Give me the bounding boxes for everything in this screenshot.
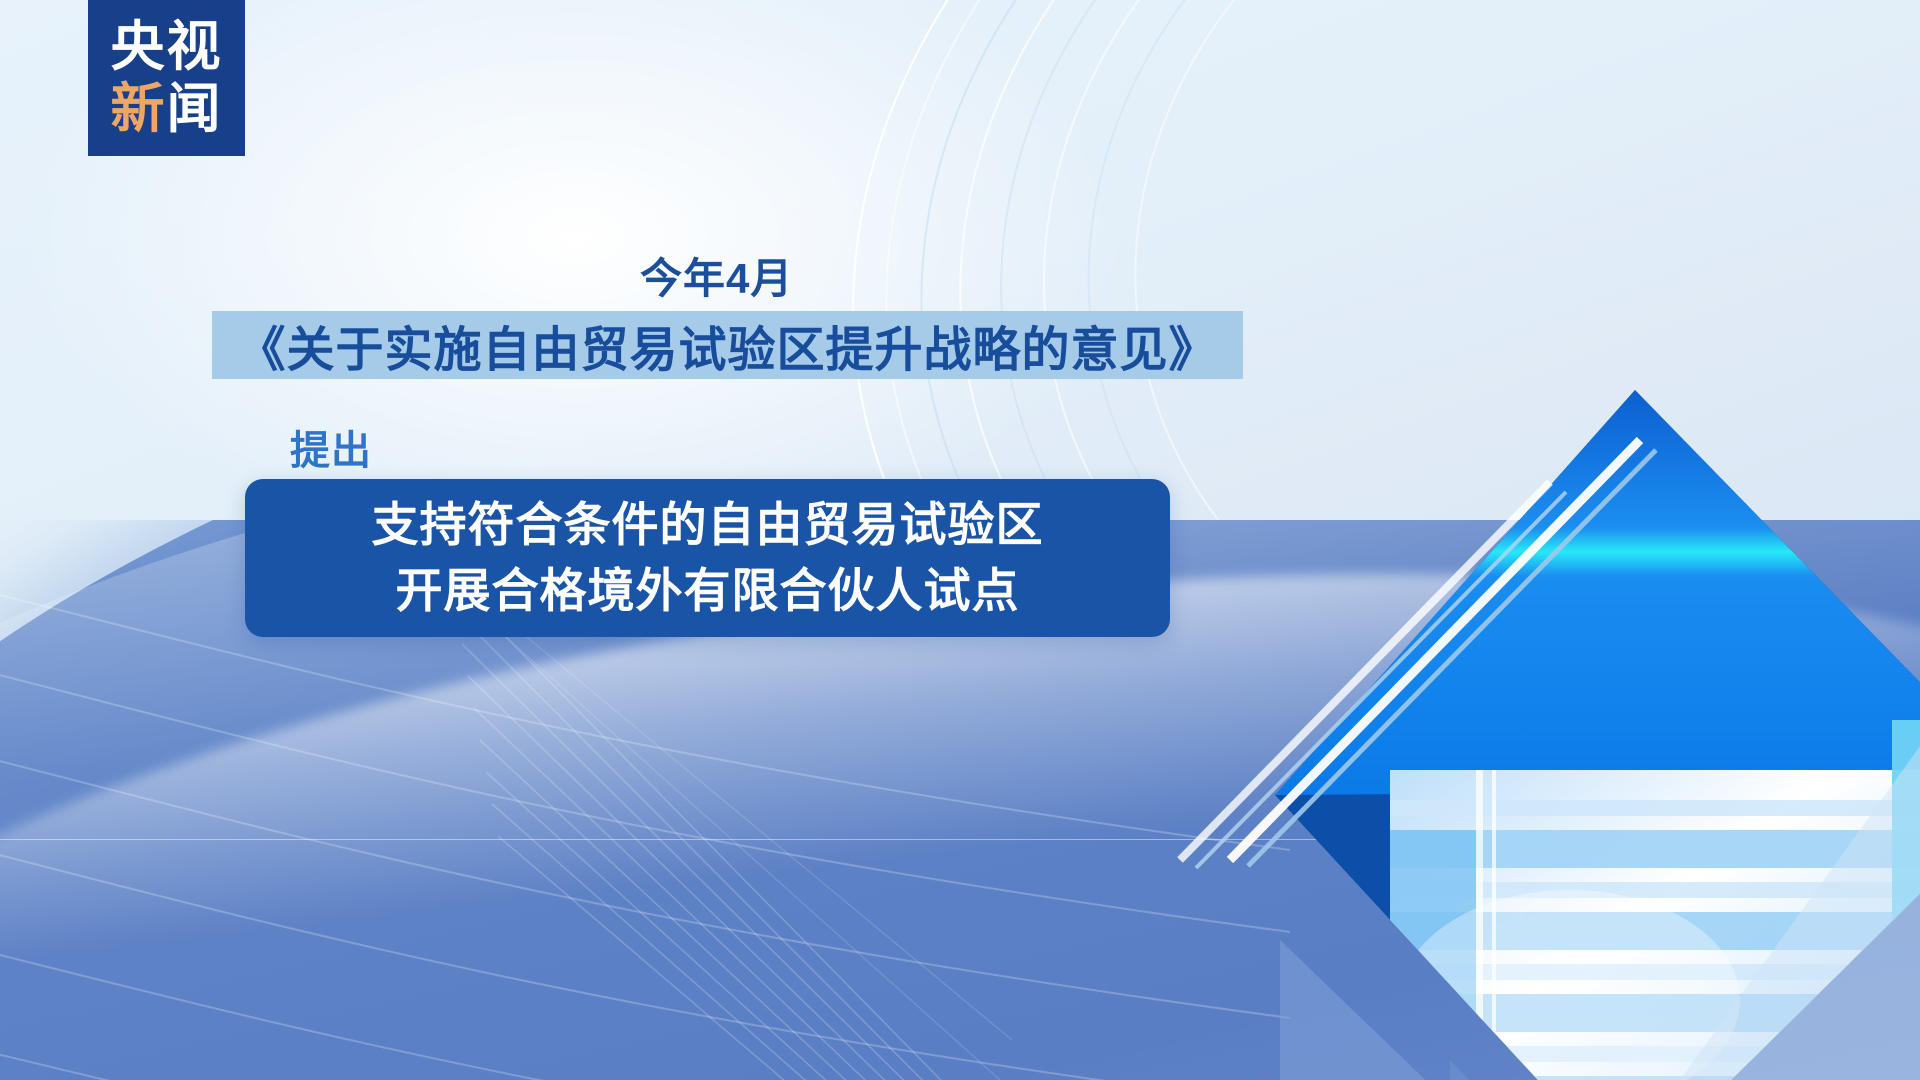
logo-char-wen: 闻	[167, 79, 223, 139]
logo-line-xinwen: 新闻	[111, 79, 223, 139]
logo-char-xin: 新	[111, 79, 167, 139]
document-title: 《关于实施自由贸易试验区提升战略的意见》	[237, 310, 1217, 380]
policy-callout-box: 支持符合条件的自由贸易试验区 开展合格境外有限合伙人试点	[245, 479, 1170, 637]
diamond-svg	[1120, 300, 1920, 1080]
kicker-date: 今年4月	[640, 245, 793, 306]
cctv-news-logo: 央视 新闻	[88, 0, 245, 156]
callout-line-2: 开展合格境外有限合伙人试点	[396, 558, 1020, 624]
lead-in-label: 提出	[290, 418, 372, 476]
diamond-skyline-graphic	[1120, 300, 1920, 1080]
broadcast-graphic-slide: 央视 新闻 今年4月 《关于实施自由贸易试验区提升战略的意见》 提出 支持符合条…	[0, 0, 1920, 1080]
document-title-band: 《关于实施自由贸易试验区提升战略的意见》	[212, 311, 1243, 379]
callout-line-1: 支持符合条件的自由贸易试验区	[372, 492, 1044, 558]
logo-line-yangshi: 央视	[111, 17, 223, 77]
